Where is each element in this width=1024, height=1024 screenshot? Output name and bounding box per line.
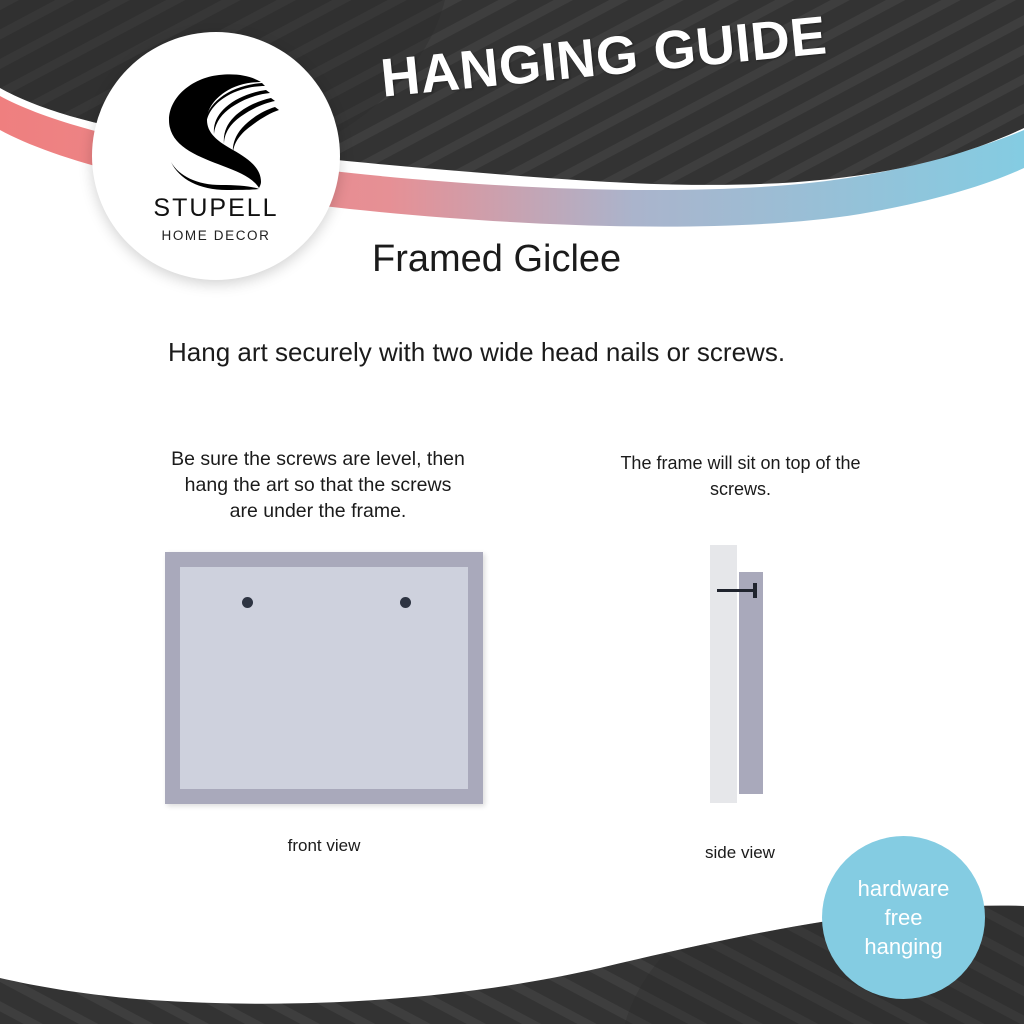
screw-dot-right [400, 597, 411, 608]
side-view-frame [739, 572, 763, 794]
brand-logo-badge: STUPELL HOME DECOR [92, 32, 340, 280]
front-view-label: front view [165, 836, 483, 856]
nail-shaft-icon [717, 589, 756, 592]
side-view-label: side view [660, 843, 820, 863]
side-view-wall [710, 545, 737, 803]
nail-head-icon [753, 583, 757, 598]
badge-line-1: hardware [858, 874, 950, 903]
side-view-diagram [710, 545, 770, 810]
brand-name: STUPELL [153, 194, 278, 223]
badge-line-2: free [885, 903, 923, 932]
brand-tagline: HOME DECOR [161, 228, 270, 243]
page-title: HANGING GUIDE [378, 4, 829, 109]
front-view-caption: Be sure the screws are level, then hang … [168, 446, 468, 524]
screw-dot-left [242, 597, 253, 608]
lead-instruction: Hang art securely with two wide head nai… [168, 337, 868, 368]
badge-line-3: hanging [864, 932, 942, 961]
hanging-guide-page: STUPELL HOME DECOR HANGING GUIDE Framed … [0, 0, 1024, 1024]
side-view-caption: The frame will sit on top of the screws. [608, 450, 873, 502]
front-view-diagram [165, 552, 483, 804]
hardware-free-hanging-badge: hardware free hanging [822, 836, 985, 999]
stupell-swoosh-s-logo-icon [153, 58, 279, 190]
product-type-heading: Framed Giclee [372, 238, 621, 281]
front-view-art-panel [180, 567, 468, 789]
